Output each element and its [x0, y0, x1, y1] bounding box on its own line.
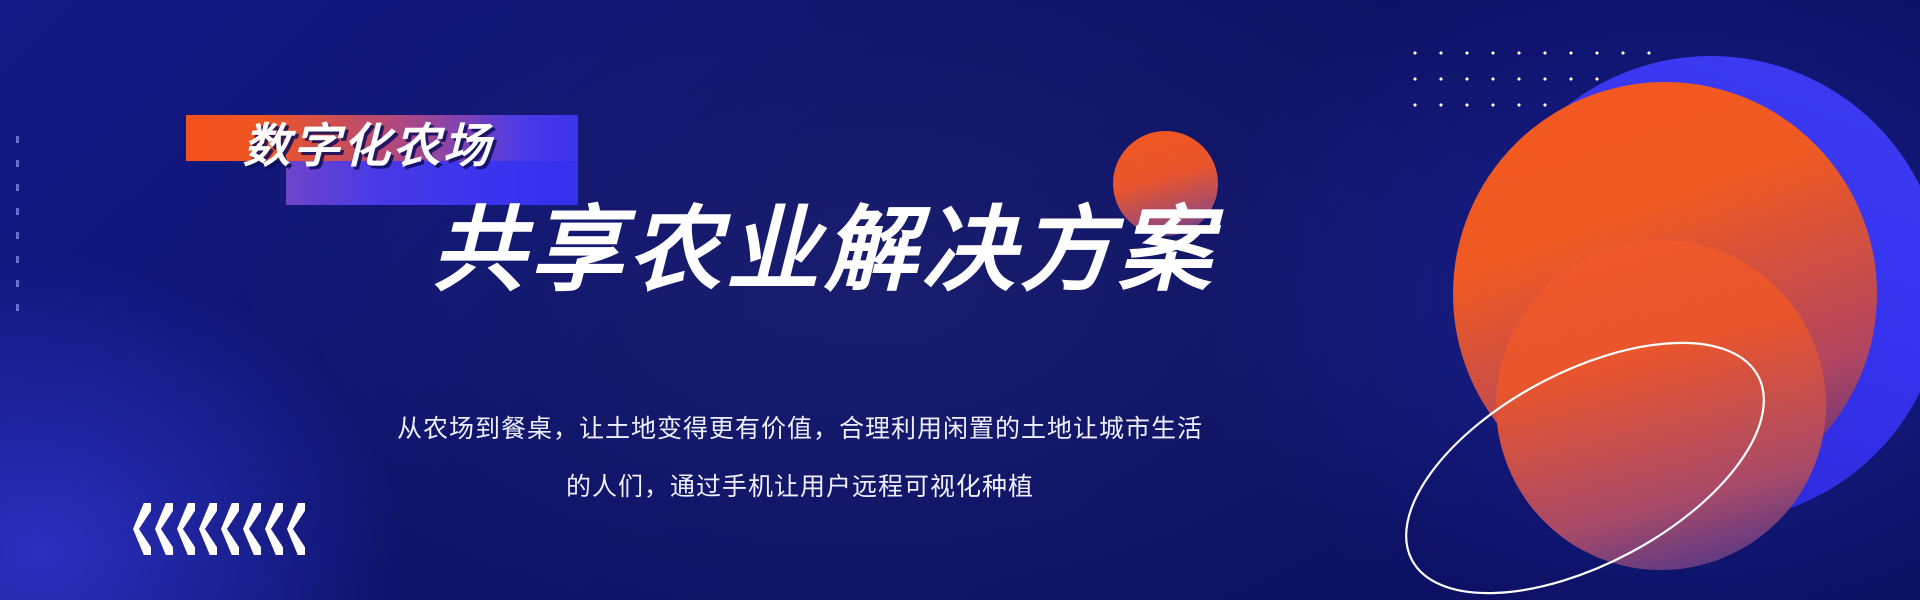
chevron-left-icon	[199, 503, 217, 555]
tick-mark	[16, 304, 19, 311]
chevron-left-icon	[155, 503, 173, 555]
banner-tag: 数字化农场	[186, 115, 578, 199]
tick-mark	[16, 256, 19, 263]
tag-label: 数字化农场	[243, 123, 583, 170]
tick-mark	[16, 280, 19, 287]
subtitle-line-1: 从农场到餐桌，让土地变得更有价值，合理利用闲置的土地让城市生活	[360, 400, 1240, 458]
chevron-left-icon	[221, 503, 239, 555]
tick-mark	[16, 136, 19, 143]
chevron-left-icon	[177, 503, 195, 555]
page-title: 共享农业解决方案	[432, 200, 1216, 300]
hero-banner: 数字化农场 共享农业解决方案 从农场到餐桌，让土地变得更有价值，合理利用闲置的土…	[0, 0, 1920, 600]
chevron-left-icon	[133, 503, 151, 555]
tick-mark	[16, 160, 19, 167]
chevron-arrows-decoration	[133, 503, 305, 555]
subtitle-line-2: 的人们，通过手机让用户远程可视化种植	[360, 458, 1240, 516]
chevron-left-icon	[287, 503, 305, 555]
tick-mark	[16, 232, 19, 239]
tick-mark	[16, 208, 19, 215]
chevron-left-icon	[265, 503, 283, 555]
orange-circle-medium	[1496, 240, 1826, 570]
tick-marks-decoration	[16, 136, 19, 311]
chevron-left-icon	[243, 503, 261, 555]
banner-subtitle: 从农场到餐桌，让土地变得更有价值，合理利用闲置的土地让城市生活 的人们，通过手机…	[360, 400, 1240, 516]
tick-mark	[16, 184, 19, 191]
